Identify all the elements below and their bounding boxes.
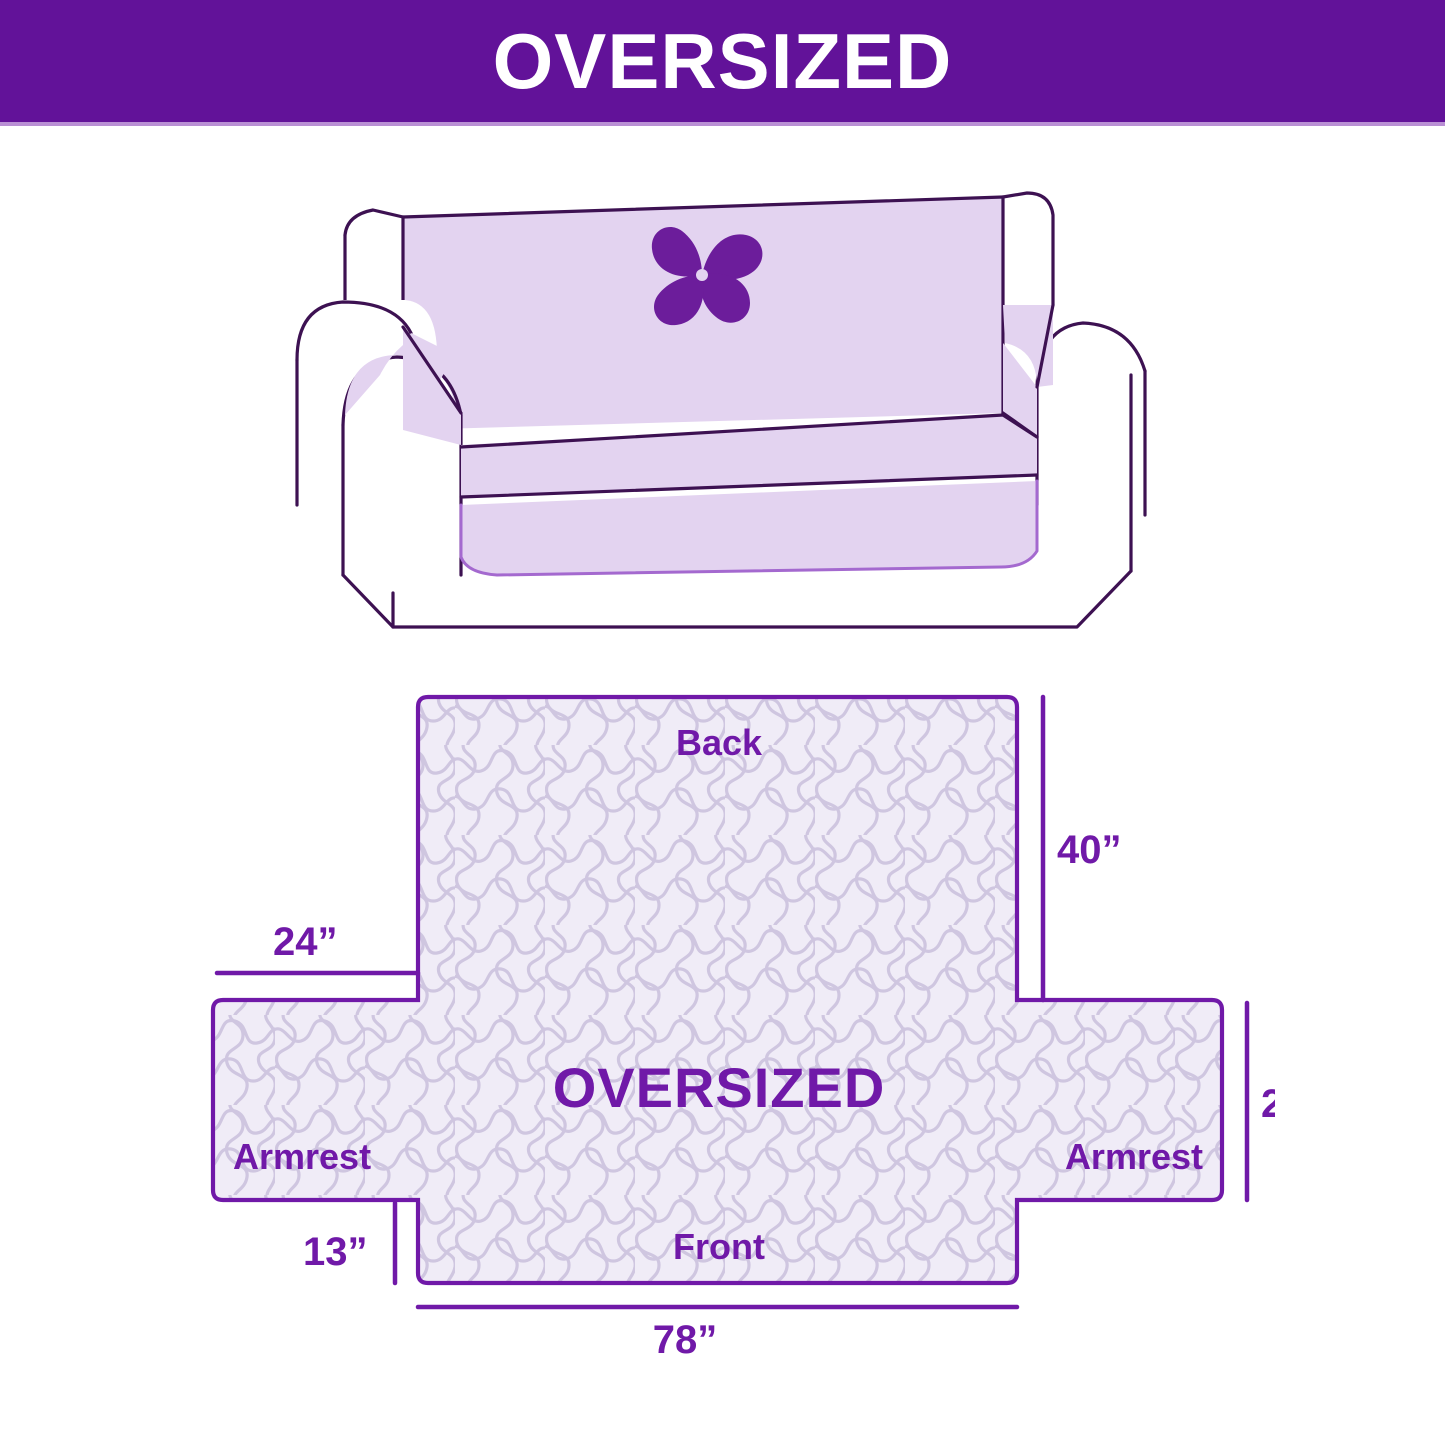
panel-label-armrest-right: Armrest: [1065, 1136, 1203, 1177]
pattern-center-label: OVERSIZED: [553, 1056, 886, 1119]
panel-label-armrest-left: Armrest: [233, 1136, 371, 1177]
panel-label-front: Front: [673, 1226, 765, 1267]
panel-label-back: Back: [676, 722, 763, 763]
dimension-label-armrest-width: 24”: [273, 920, 338, 964]
dimension-label-front-width: 78”: [653, 1318, 718, 1355]
pattern-outline: [213, 697, 1222, 1283]
header-underline-divider: [0, 122, 1445, 126]
header-banner: OVERSIZED: [0, 0, 1445, 122]
flat-pattern-diagram: 40” 24” 23” 13” 78” Back Armrest Armrest…: [185, 655, 1275, 1355]
dimension-label-armrest-height: 23”: [1261, 1082, 1275, 1126]
dimension-label-front-drop: 13”: [303, 1230, 368, 1274]
sofa-illustration: .ln { fill:none; stroke:#3d1152; stroke-…: [285, 175, 1185, 635]
page-title: OVERSIZED: [493, 22, 953, 100]
dimension-label-back-height: 40”: [1057, 828, 1122, 872]
